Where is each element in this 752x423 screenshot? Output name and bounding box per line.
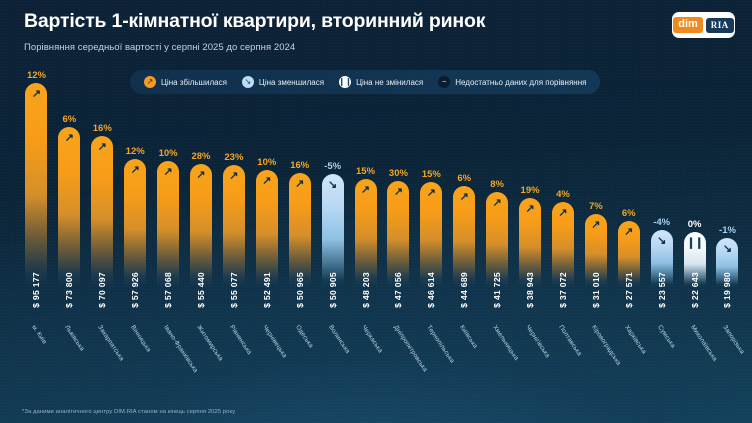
price-labels-row: $ 95 177$ 73 800$ 70 097$ 57 926$ 57 068… xyxy=(22,272,742,322)
bar-change-label: 6% xyxy=(622,209,636,219)
bar[interactable]: ↗ xyxy=(223,165,245,287)
price-cell: $ 52 491 xyxy=(252,272,281,322)
bar-column[interactable]: 7%↗ xyxy=(581,62,610,287)
bar[interactable]: ↘ xyxy=(322,174,344,287)
bar-change-label: 15% xyxy=(422,170,441,180)
bar-column[interactable]: 16%↗ xyxy=(88,62,117,287)
region-label: Сумська xyxy=(656,324,676,349)
price-value: $ 37 072 xyxy=(558,272,568,308)
bar-change-label: -5% xyxy=(324,162,341,172)
region-cell: Кіровоградська xyxy=(581,322,610,392)
price-value: $ 50 905 xyxy=(328,272,338,308)
up-arrow-icon: ↗ xyxy=(460,192,469,203)
bar-change-label: 23% xyxy=(224,153,243,163)
bar-column[interactable]: 19%↗ xyxy=(516,62,545,287)
region-cell: Івано-Франківська xyxy=(154,322,183,392)
price-value: $ 55 440 xyxy=(196,272,206,308)
down-arrow-icon: ↘ xyxy=(723,244,732,255)
bar-change-label: 16% xyxy=(290,161,309,171)
price-cell: $ 19 980 xyxy=(713,272,742,322)
up-arrow-icon: ↗ xyxy=(394,187,403,198)
region-cell: Миколаївська xyxy=(680,322,709,392)
region-cell: Волинська xyxy=(318,322,347,392)
region-cell: Запорізька xyxy=(713,322,742,392)
bar-change-label: 6% xyxy=(457,174,471,184)
price-cell: $ 27 571 xyxy=(614,272,643,322)
bar-column[interactable]: 10%↗ xyxy=(252,62,281,287)
bar-column[interactable]: 30%↗ xyxy=(384,62,413,287)
region-label: м. Київ xyxy=(31,324,49,345)
bar-change-label: 8% xyxy=(490,180,504,190)
price-cell: $ 23 557 xyxy=(647,272,676,322)
bar-column[interactable]: 15%↗ xyxy=(417,62,446,287)
price-value: $ 55 077 xyxy=(229,272,239,308)
up-arrow-icon: ↗ xyxy=(98,142,107,153)
up-arrow-icon: ↗ xyxy=(624,227,633,238)
bar-change-label: 19% xyxy=(521,186,540,196)
bar-column[interactable]: 6%↗ xyxy=(614,62,643,287)
bar-column[interactable]: 6%↗ xyxy=(55,62,84,287)
region-cell: Львівська xyxy=(55,322,84,392)
price-value: $ 22 643 xyxy=(690,272,700,308)
region-cell: Закарпатська xyxy=(88,322,117,392)
bar-change-label: 30% xyxy=(389,169,408,179)
bar-change-label: -4% xyxy=(653,218,670,228)
region-label: Волинська xyxy=(327,324,351,355)
price-cell: $ 46 614 xyxy=(417,272,446,322)
price-value: $ 41 725 xyxy=(492,272,502,308)
price-value: $ 19 980 xyxy=(722,272,732,308)
region-cell: Одеська xyxy=(285,322,314,392)
price-cell: $ 57 926 xyxy=(121,272,150,322)
price-cell: $ 41 725 xyxy=(483,272,512,322)
price-value: $ 48 203 xyxy=(361,272,371,308)
up-arrow-icon: ↗ xyxy=(32,89,41,100)
price-cell: $ 44 689 xyxy=(450,272,479,322)
header: Вартість 1-кімнатної квартири, вторинний… xyxy=(24,10,485,53)
region-cell: Полтавська xyxy=(549,322,578,392)
region-cell: Київська xyxy=(450,322,479,392)
region-cell: Харківська xyxy=(614,322,643,392)
up-arrow-icon: ↗ xyxy=(196,170,205,181)
up-arrow-icon: ↗ xyxy=(262,176,271,187)
price-cell: $ 95 177 xyxy=(22,272,51,322)
down-arrow-icon: ↘ xyxy=(328,180,337,191)
region-label: Полтавська xyxy=(557,324,583,357)
price-cell: $ 73 800 xyxy=(55,272,84,322)
region-label: Чернівецька xyxy=(261,324,288,359)
bar-column[interactable]: 10%↗ xyxy=(154,62,183,287)
bar-column[interactable]: 4%↗ xyxy=(549,62,578,287)
bar-change-label: 6% xyxy=(62,115,76,125)
region-label: Запорізька xyxy=(722,324,746,355)
price-value: $ 23 557 xyxy=(657,272,667,308)
up-arrow-icon: ↗ xyxy=(163,167,172,178)
bar[interactable]: ↗ xyxy=(256,170,278,287)
region-cell: Вінницька xyxy=(121,322,150,392)
up-arrow-icon: ↗ xyxy=(65,133,74,144)
price-value: $ 70 097 xyxy=(97,272,107,308)
price-value: $ 52 491 xyxy=(262,272,272,308)
bar-column[interactable]: 28%↗ xyxy=(187,62,216,287)
price-cell: $ 37 072 xyxy=(549,272,578,322)
price-value: $ 38 943 xyxy=(525,272,535,308)
region-cell: м. Київ xyxy=(22,322,51,392)
bar[interactable]: ↗ xyxy=(91,136,113,287)
price-cell: $ 50 965 xyxy=(285,272,314,322)
infographic-root: Вартість 1-кімнатної квартири, вторинний… xyxy=(0,0,752,423)
region-label: Одеська xyxy=(294,324,314,349)
footnote: *За даними аналітичного центру DIM.RIA с… xyxy=(22,409,235,415)
bar[interactable]: ↗ xyxy=(58,127,80,287)
bar-column[interactable]: 23%↗ xyxy=(219,62,248,287)
bar-change-label: 16% xyxy=(93,124,112,134)
bar-change-label: 7% xyxy=(589,202,603,212)
page-subtitle: Порівняння середньої вартості у серпні 2… xyxy=(24,42,485,53)
region-label: Рівненська xyxy=(228,324,253,356)
price-cell: $ 70 097 xyxy=(88,272,117,322)
bar-column[interactable]: 12%↗ xyxy=(22,62,51,287)
price-value: $ 31 010 xyxy=(591,272,601,308)
price-cell: $ 22 643 xyxy=(680,272,709,322)
region-label: Черкаська xyxy=(360,324,384,354)
price-cell: $ 57 068 xyxy=(154,272,183,322)
price-value: $ 47 056 xyxy=(393,272,403,308)
region-label: Київська xyxy=(458,324,478,350)
price-cell: $ 55 077 xyxy=(219,272,248,322)
bar[interactable]: ↗ xyxy=(124,159,146,287)
region-cell: Дніпропетровська xyxy=(384,322,413,392)
price-value: $ 44 689 xyxy=(459,272,469,308)
bar-column[interactable]: -1%↘ xyxy=(713,62,742,287)
bar-column[interactable]: 8%↗ xyxy=(483,62,512,287)
logo-dim-text: dim xyxy=(673,17,703,33)
bar-change-label: 10% xyxy=(257,158,276,168)
bar-chart: 12%↗6%↗16%↗12%↗10%↗28%↗23%↗10%↗16%↗-5%↘1… xyxy=(22,62,742,287)
region-labels-row: м. КиївЛьвівськаЗакарпатськаВінницькаІва… xyxy=(22,322,742,392)
region-label: Чернігівська xyxy=(524,324,551,359)
price-cell: $ 48 203 xyxy=(351,272,380,322)
region-cell: Хмельницька xyxy=(483,322,512,392)
price-value: $ 57 926 xyxy=(130,272,140,308)
price-cell: $ 31 010 xyxy=(581,272,610,322)
bar-change-label: 28% xyxy=(191,152,210,162)
region-label: Львівська xyxy=(64,324,86,352)
bar[interactable]: ↗ xyxy=(289,173,311,287)
up-arrow-icon: ↗ xyxy=(229,171,238,182)
region-label: Харківська xyxy=(623,324,647,355)
price-value: $ 57 068 xyxy=(163,272,173,308)
up-arrow-icon: ↗ xyxy=(131,165,140,176)
dim-ria-logo[interactable]: dim RIA xyxy=(672,12,735,38)
bar-change-label: 12% xyxy=(27,71,46,81)
bar-column[interactable]: 6%↗ xyxy=(450,62,479,287)
price-cell: $ 47 056 xyxy=(384,272,413,322)
down-arrow-icon: ↘ xyxy=(657,236,666,247)
up-arrow-icon: ↗ xyxy=(361,185,370,196)
bar-change-label: 12% xyxy=(126,147,145,157)
region-cell: Рівненська xyxy=(219,322,248,392)
up-arrow-icon: ↗ xyxy=(493,198,502,209)
region-cell: Житомирська xyxy=(187,322,216,392)
region-cell: Черкаська xyxy=(351,322,380,392)
price-value: $ 27 571 xyxy=(624,272,634,308)
bar[interactable]: ↗ xyxy=(190,164,212,287)
logo-ria-text: RIA xyxy=(706,18,734,33)
price-value: $ 46 614 xyxy=(426,272,436,308)
up-arrow-icon: ↗ xyxy=(427,188,436,199)
bar-change-label: -1% xyxy=(719,226,736,236)
bar-change-label: 4% xyxy=(556,190,570,200)
bar-column[interactable]: 16%↗ xyxy=(285,62,314,287)
flat-arrow-icon: ❙❙ xyxy=(686,238,702,249)
price-cell: $ 50 905 xyxy=(318,272,347,322)
region-label: Вінницька xyxy=(129,324,152,353)
price-cell: $ 55 440 xyxy=(187,272,216,322)
up-arrow-icon: ↗ xyxy=(295,179,304,190)
bar-change-label: 0% xyxy=(688,220,702,230)
bar-change-label: 10% xyxy=(159,149,178,159)
bar[interactable]: ↗ xyxy=(157,161,179,287)
bar-column[interactable]: 0%❙❙ xyxy=(680,62,709,287)
bar-column[interactable]: 12%↗ xyxy=(121,62,150,287)
page-title: Вартість 1-кімнатної квартири, вторинний… xyxy=(24,10,485,33)
price-cell: $ 38 943 xyxy=(516,272,545,322)
up-arrow-icon: ↗ xyxy=(591,220,600,231)
region-cell: Тернопільська xyxy=(417,322,446,392)
up-arrow-icon: ↗ xyxy=(558,208,567,219)
bar[interactable]: ↗ xyxy=(355,179,377,287)
price-value: $ 50 965 xyxy=(295,272,305,308)
price-value: $ 95 177 xyxy=(31,272,41,308)
region-cell: Сумська xyxy=(647,322,676,392)
price-value: $ 73 800 xyxy=(64,272,74,308)
region-cell: Чернігівська xyxy=(516,322,545,392)
bar-change-label: 15% xyxy=(356,167,375,177)
region-cell: Чернівецька xyxy=(252,322,281,392)
bar-column[interactable]: 15%↗ xyxy=(351,62,380,287)
up-arrow-icon: ↗ xyxy=(525,204,534,215)
bar-column[interactable]: -5%↘ xyxy=(318,62,347,287)
bar-column[interactable]: -4%↘ xyxy=(647,62,676,287)
bar[interactable]: ↗ xyxy=(25,83,47,287)
